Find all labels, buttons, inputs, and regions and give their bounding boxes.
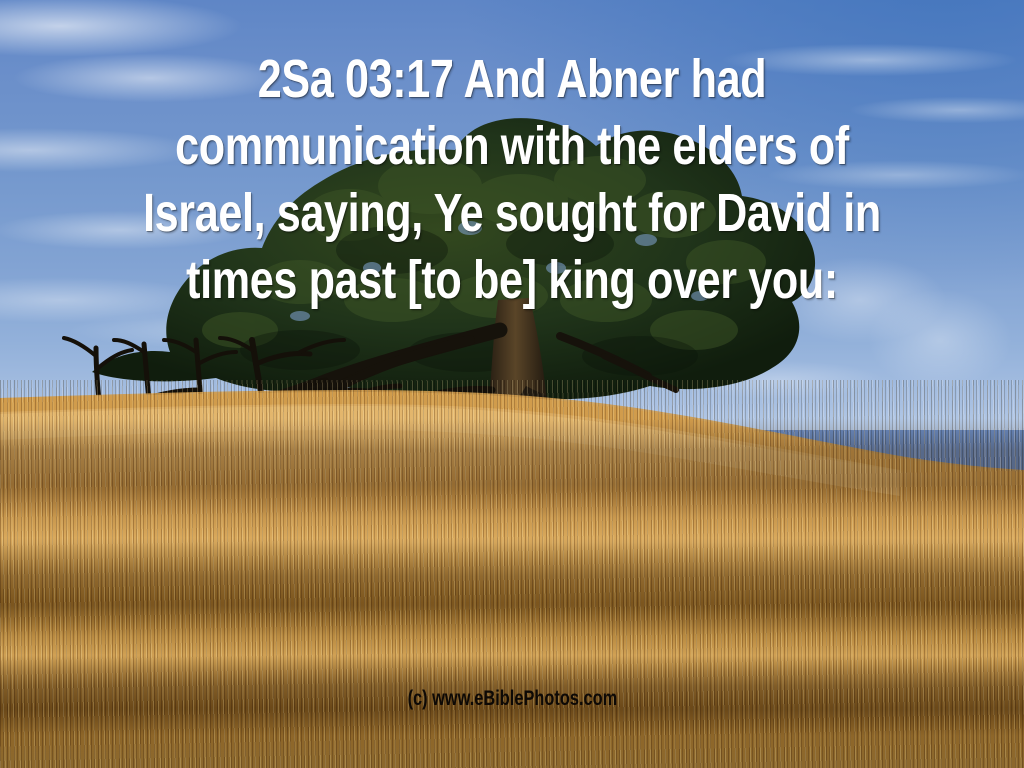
verse-line-3: Israel, saying, Ye sought for David in bbox=[102, 180, 921, 247]
scripture-photo: 2Sa 03:17 And Abner had communication wi… bbox=[0, 0, 1024, 768]
verse-line-2: communication with the elders of bbox=[102, 113, 921, 180]
watermark: (c) www.eBiblePhotos.com bbox=[0, 688, 1024, 710]
verse-overlay: 2Sa 03:17 And Abner had communication wi… bbox=[0, 46, 1024, 314]
watermark-text: (c) www.eBiblePhotos.com bbox=[407, 688, 617, 709]
verse-line-1: 2Sa 03:17 And Abner had bbox=[102, 46, 921, 113]
verse-line-4: times past [to be] king over you: bbox=[102, 247, 921, 314]
